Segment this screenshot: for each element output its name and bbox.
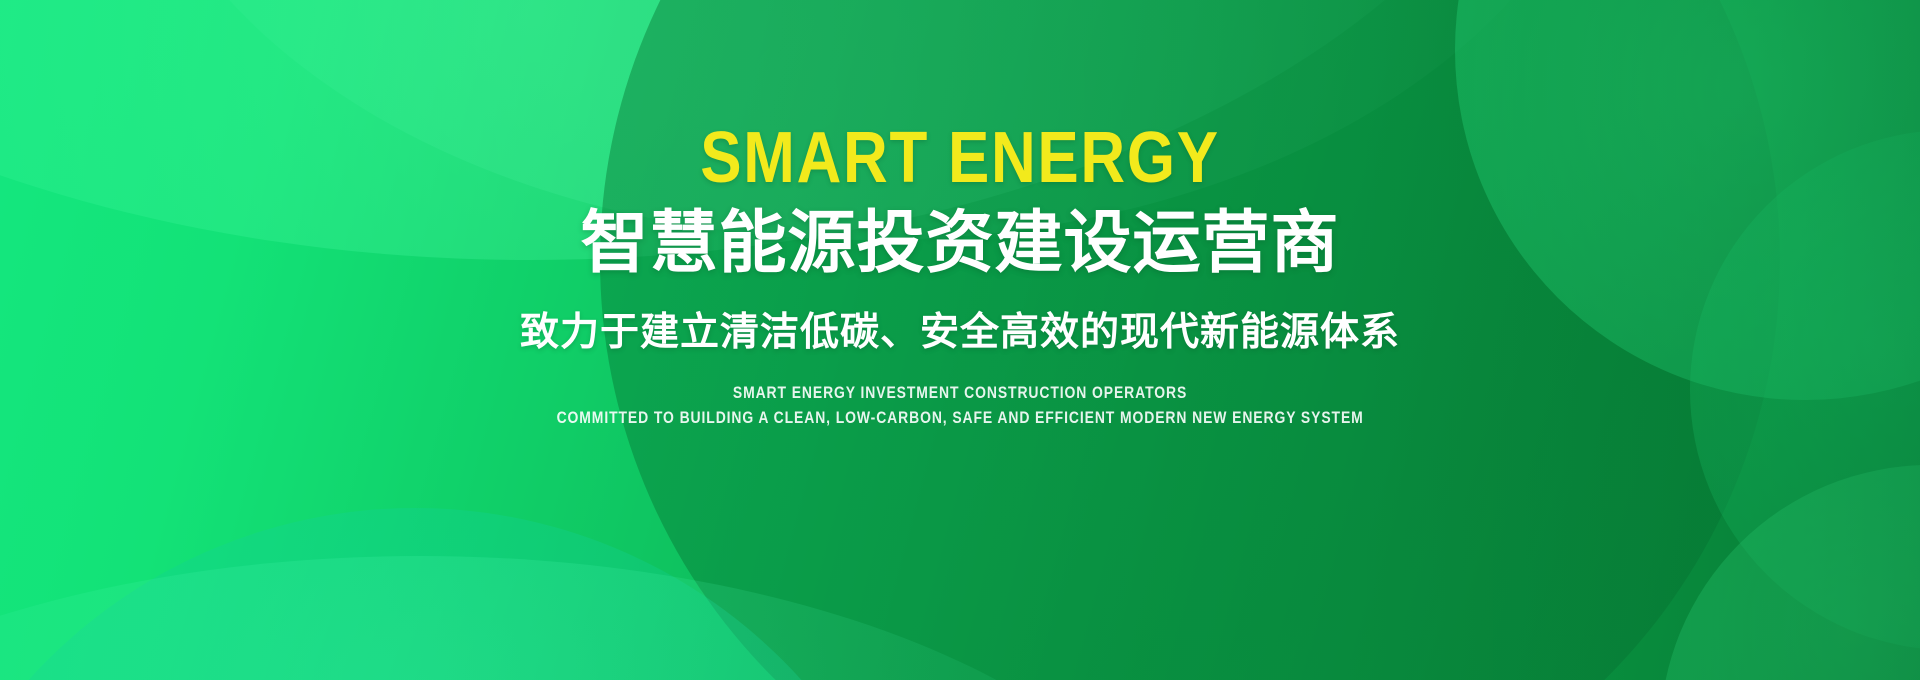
banner-subtitle-english-line1: SMART ENERGY INVESTMENT CONSTRUCTION OPE…	[733, 381, 1187, 405]
hero-banner: SMART ENERGY 智慧能源投资建设运营商 致力于建立清洁低碳、安全高效的…	[0, 0, 1920, 680]
banner-subtitle-chinese: 致力于建立清洁低碳、安全高效的现代新能源体系	[520, 312, 1400, 355]
banner-title-chinese: 智慧能源投资建设运营商	[580, 208, 1339, 280]
banner-content: SMART ENERGY 智慧能源投资建设运营商 致力于建立清洁低碳、安全高效的…	[0, 0, 1920, 680]
banner-subtitle-english-line2: COMMITTED TO BUILDING A CLEAN, LOW-CARBO…	[556, 406, 1363, 430]
banner-title-english: SMART ENERGY	[700, 122, 1219, 194]
